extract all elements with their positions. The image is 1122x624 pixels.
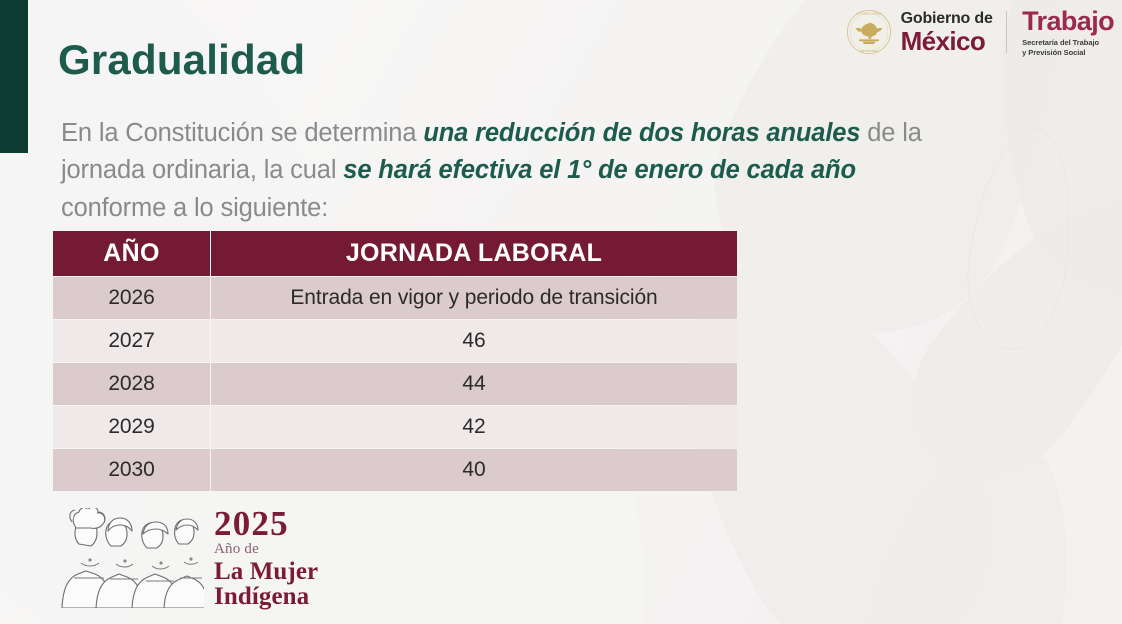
page-title: Gradualidad [58,36,305,84]
cell-anio: 2029 [53,406,210,448]
table-row: 2030 40 [53,449,737,491]
table-row: 2028 44 [53,363,737,405]
lede-part-3: conforme a lo siguiente: [61,194,328,222]
cell-anio: 2028 [53,363,210,405]
indigenous-women-illustration-icon [56,508,204,608]
cell-jornada: 42 [211,406,737,448]
left-accent-bar [0,0,28,153]
table-row: 2029 42 [53,406,737,448]
lede-emphasis-1: una reducción de dos horas anuales [423,119,860,147]
mujer-year: 2025 [214,506,318,541]
mujer-indigena-wordmark: 2025 Año de La Mujer Indígena [214,506,318,609]
stps-wordmark: Trabajo Secretaría del Trabajoy Previsió… [1022,6,1114,57]
cell-jornada: 44 [211,363,737,405]
cell-anio: 2030 [53,449,210,491]
svg-text:ESTADOS UNIDOS: ESTADOS UNIDOS [856,11,882,15]
lede-part-1: En la Constitución se determina [61,119,423,147]
table-row: 2026 Entrada en vigor y periodo de trans… [53,277,737,319]
gradualidad-table: AÑO JORNADA LABORAL 2026 Entrada en vigo… [52,230,738,492]
cell-jornada: Entrada en vigor y periodo de transición [211,277,737,319]
background-watermark-outline [957,122,1085,355]
gobierno-de-mexico-logo: ESTADOS UNIDOS MEXICANOS Gobierno de Méx… [846,6,1114,57]
table-row: 2027 46 [53,320,737,362]
cell-jornada: 40 [211,449,737,491]
column-header-jornada: JORNADA LABORAL [211,231,737,276]
logo-divider [1006,11,1008,53]
svg-text:MEXICANOS: MEXICANOS [860,49,878,53]
background-watermark-shape [851,414,1099,624]
mujer-line1: La Mujer [214,559,318,584]
mujer-line2: Indígena [214,584,318,609]
mujer-ano-de: Año de [214,542,318,557]
gobierno-de-mexico-wordmark: Gobierno de México [901,9,993,54]
stps-subtitle: Secretaría del Trabajoy Previsión Social [1022,38,1114,57]
slide-canvas: Gradualidad ESTADOS UNIDOS MEXICANOS Gob… [0,0,1122,624]
ano-mujer-indigena-logo: 2025 Año de La Mujer Indígena [56,506,318,609]
gob-line2: México [901,28,993,54]
cell-anio: 2027 [53,320,210,362]
stps-subtitle-line2: y Previsión Social [1022,48,1085,57]
cell-jornada: 46 [211,320,737,362]
cell-anio: 2026 [53,277,210,319]
table-body: 2026 Entrada en vigor y periodo de trans… [53,277,737,491]
mexico-eagle-seal-icon: ESTADOS UNIDOS MEXICANOS [846,9,892,55]
table-header-row: AÑO JORNADA LABORAL [53,231,737,276]
gob-line1: Gobierno de [901,11,993,27]
intro-paragraph: En la Constitución se determina una redu… [61,115,941,228]
lede-emphasis-2: se hará efectiva el 1° de enero de cada … [343,156,856,184]
column-header-anio: AÑO [53,231,210,276]
stps-dependency: Trabajo [1022,8,1114,35]
stps-subtitle-line1: Secretaría del Trabajo [1022,38,1099,47]
